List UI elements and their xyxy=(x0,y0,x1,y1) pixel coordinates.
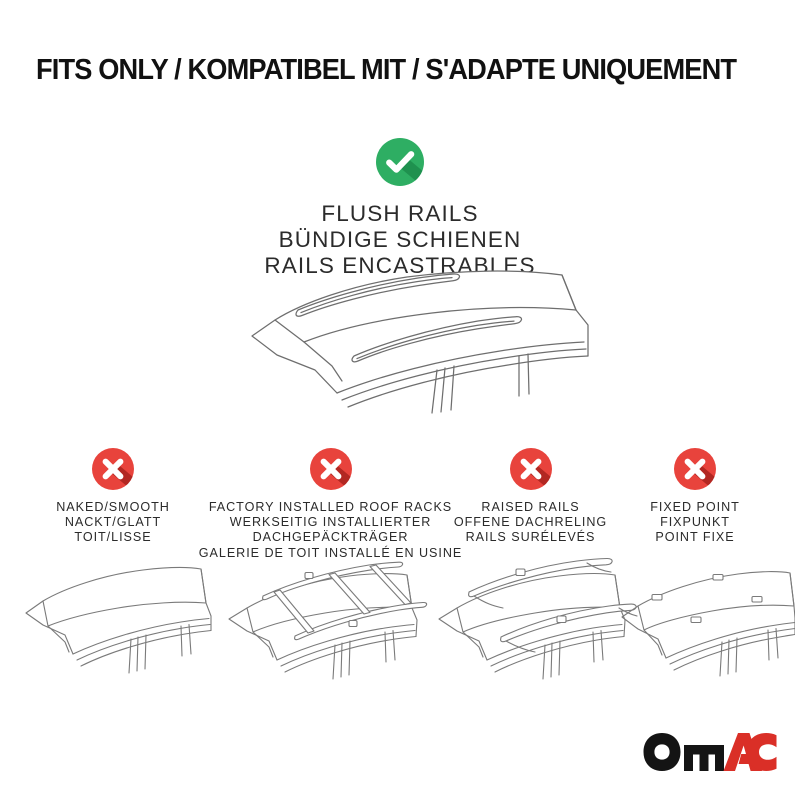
rejected-label-group: FIXED POINT FIXPUNKT POINT FIXE xyxy=(650,500,740,546)
rejected-label-de-2: DACHGEPÄCKTRÄGER xyxy=(199,530,462,545)
rejected-label-de: OFFENE DACHRELING xyxy=(454,515,607,530)
rejected-item-raised-rails: RAISED RAILS OFFENE DACHRELING RAILS SUR… xyxy=(428,448,633,546)
rejected-label-fr: POINT FIXE xyxy=(650,530,740,545)
rejected-label-group: FACTORY INSTALLED ROOF RACKS WERKSEITIG … xyxy=(199,500,462,561)
car-roof-fixed-point-illustration xyxy=(610,556,795,691)
check-circle-icon xyxy=(376,138,424,186)
rejected-label-en: FIXED POINT xyxy=(650,500,740,515)
rejected-section: NAKED/SMOOTH NACKT/GLATT TOIT/LISSE xyxy=(0,448,800,708)
approved-section: FLUSH RAILS BÜNDIGE SCHIENEN RAILS ENCAS… xyxy=(0,138,800,279)
x-circle-icon xyxy=(310,448,352,490)
rejected-label-de: NACKT/GLATT xyxy=(56,515,170,530)
rejected-label-en: NAKED/SMOOTH xyxy=(56,500,170,515)
rejected-label-fr: RAILS SURÉLEVÉS xyxy=(454,530,607,545)
car-roof-flush-rails-illustration xyxy=(232,263,592,428)
rejected-label-en: FACTORY INSTALLED ROOF RACKS xyxy=(199,500,462,515)
rejected-item-factory-racks: FACTORY INSTALLED ROOF RACKS WERKSEITIG … xyxy=(218,448,443,561)
approved-label-de: BÜNDIGE SCHIENEN xyxy=(264,227,535,253)
page-title: FITS ONLY / KOMPATIBEL MIT / S'ADAPTE UN… xyxy=(36,54,743,87)
car-roof-factory-racks-illustration xyxy=(213,556,433,691)
rejected-label-de-1: WERKSEITIG INSTALLIERTER xyxy=(199,515,462,530)
approved-label-en: FLUSH RAILS xyxy=(264,201,535,227)
omac-logo xyxy=(642,732,778,772)
x-circle-icon xyxy=(510,448,552,490)
car-roof-naked-smooth-illustration xyxy=(13,556,213,686)
rejected-label-fr: TOIT/LISSE xyxy=(56,530,170,545)
rejected-item-naked-smooth: NAKED/SMOOTH NACKT/GLATT TOIT/LISSE xyxy=(13,448,213,546)
rejected-label-de: FIXPUNKT xyxy=(650,515,740,530)
x-circle-icon xyxy=(674,448,716,490)
car-roof-raised-rails-illustration xyxy=(423,556,638,691)
rejected-label-group: NAKED/SMOOTH NACKT/GLATT TOIT/LISSE xyxy=(56,500,170,546)
x-circle-icon xyxy=(92,448,134,490)
rejected-item-fixed-point: FIXED POINT FIXPUNKT POINT FIXE xyxy=(610,448,780,546)
rejected-label-en: RAISED RAILS xyxy=(454,500,607,515)
rejected-label-group: RAISED RAILS OFFENE DACHRELING RAILS SUR… xyxy=(454,500,607,546)
